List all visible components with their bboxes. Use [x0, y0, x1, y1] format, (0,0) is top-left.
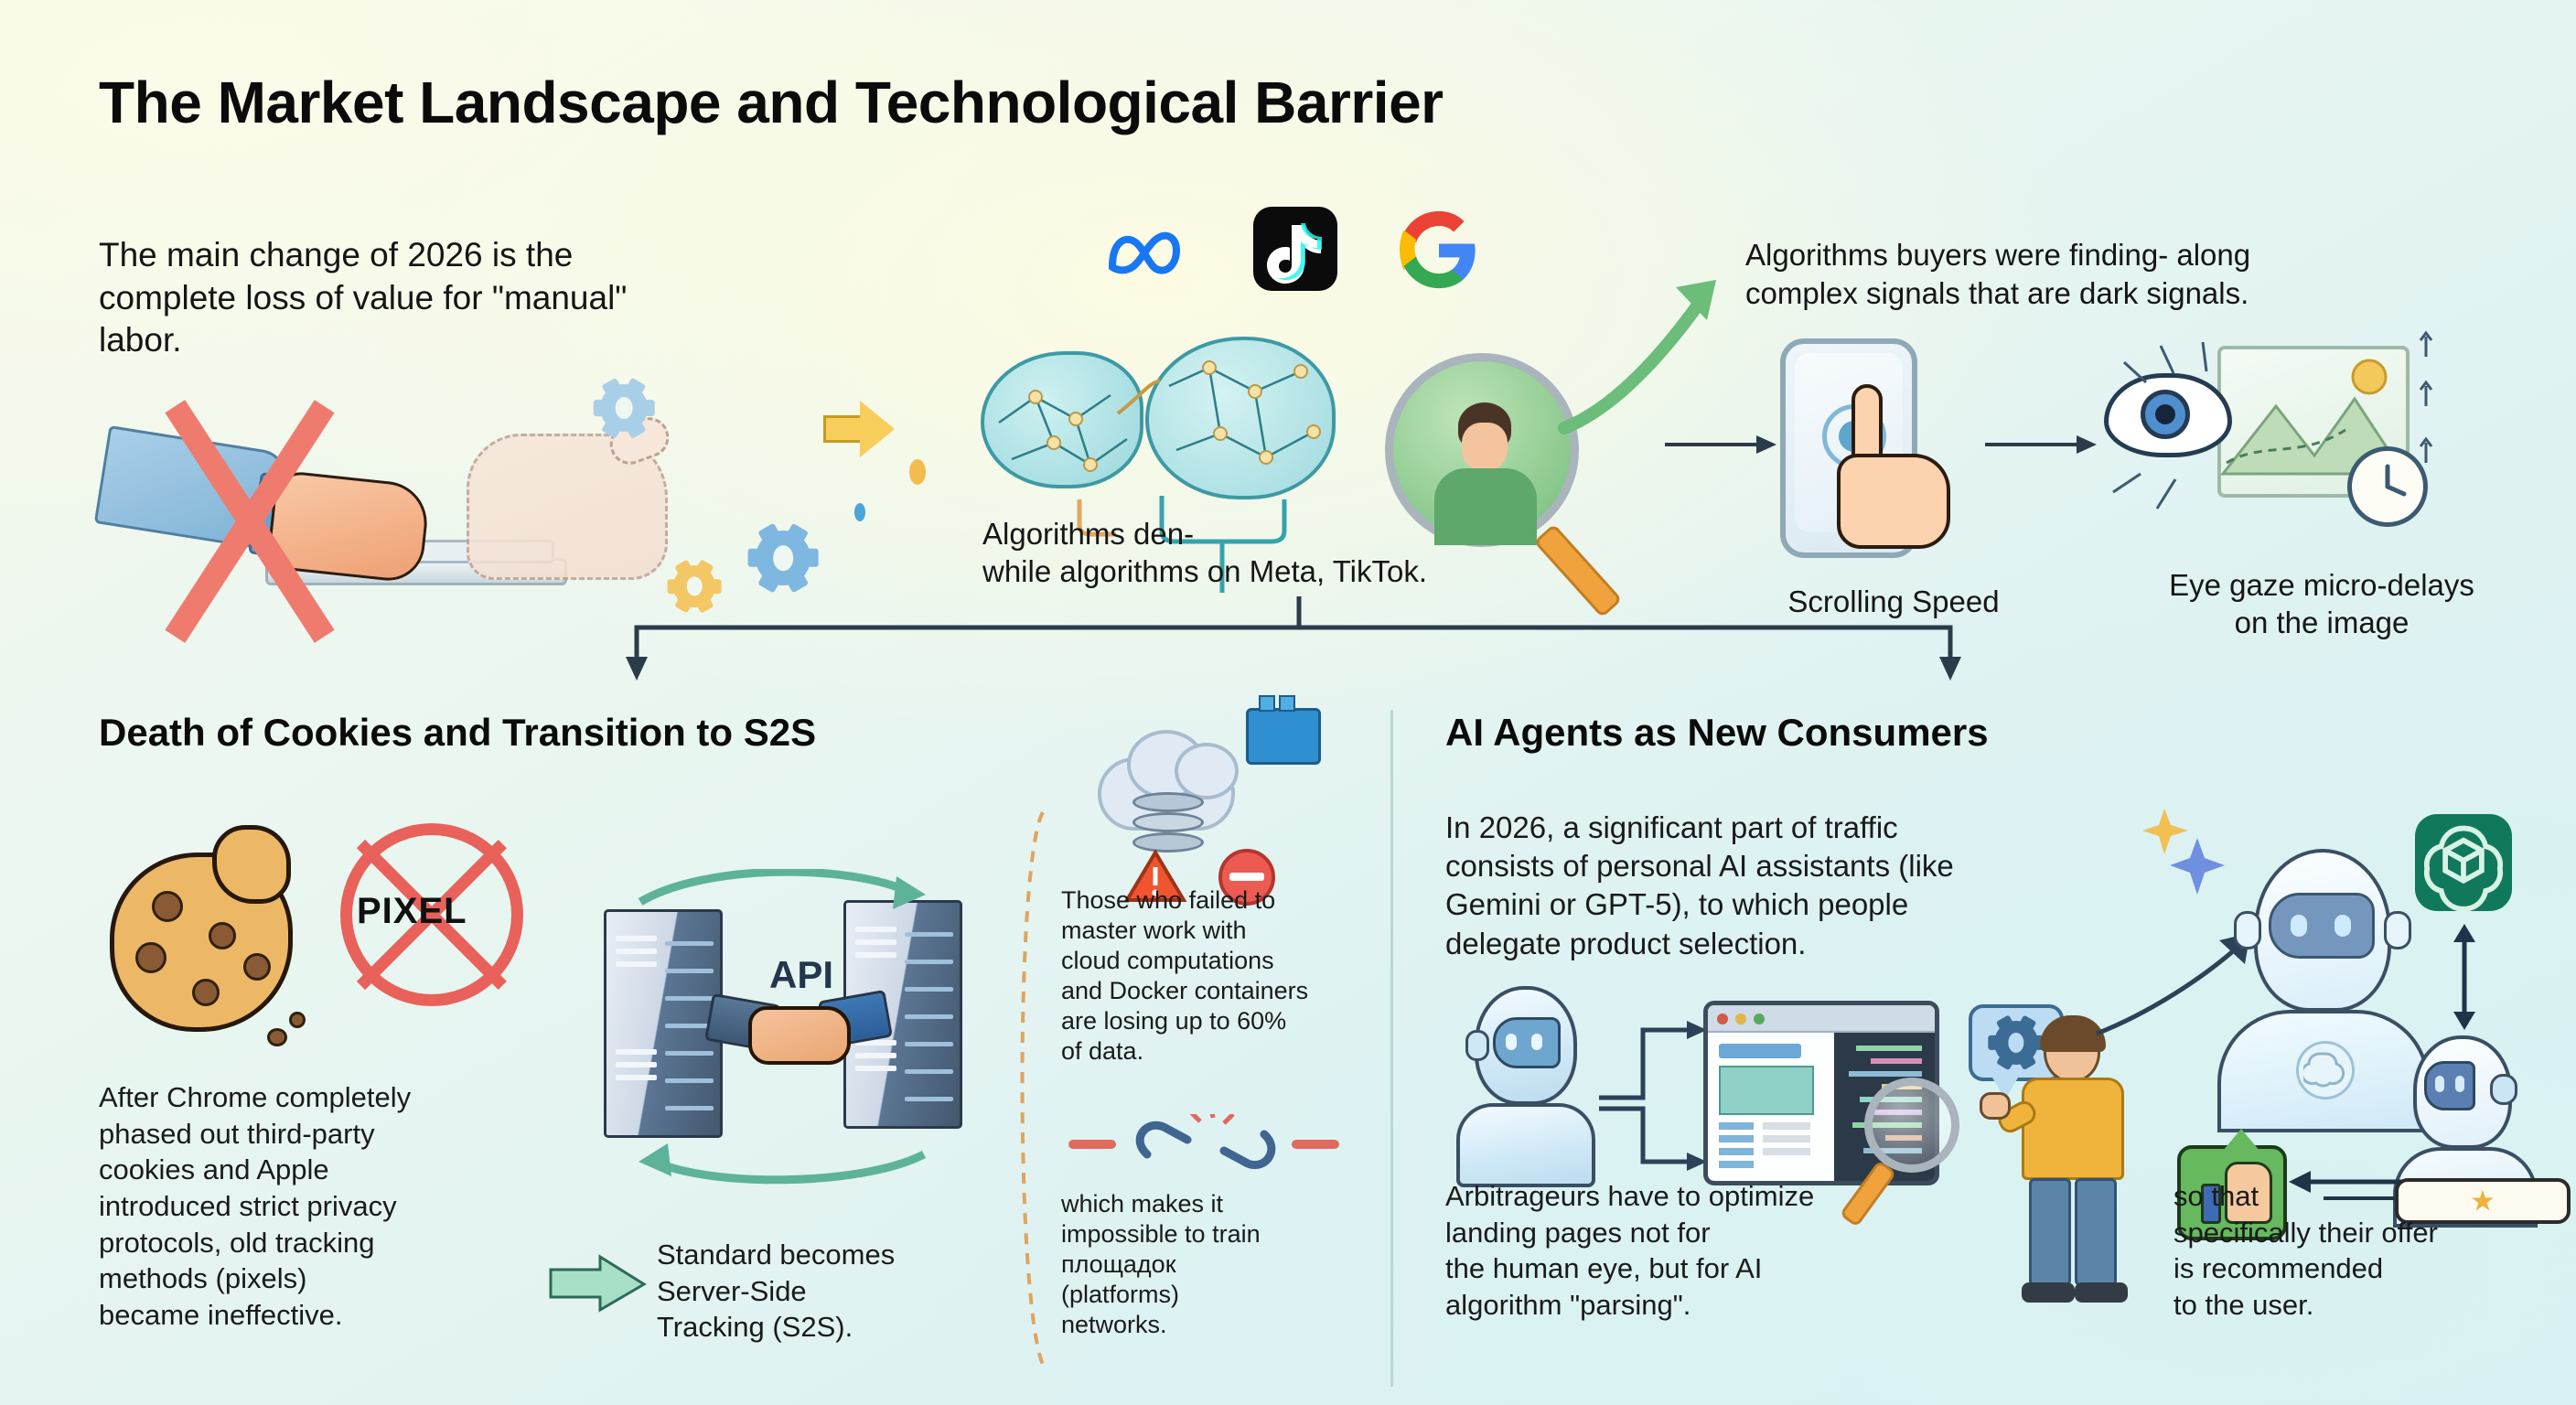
- manual-labor-crossed-art: [101, 393, 887, 622]
- broken-link-icon: [1061, 1114, 1363, 1178]
- top-right-lead: Algorithms buyers were finding- along co…: [1745, 236, 2422, 312]
- api-handshake-art: API: [585, 869, 1006, 1198]
- pixel-label: PIXEL: [357, 891, 467, 932]
- ai-robot-small-icon: [1453, 986, 1617, 1187]
- pixel-blocked-icon[interactable]: PIXEL: [340, 823, 523, 1006]
- eye-gaze-caption: Eye gaze micro-delays on the image: [2120, 567, 2523, 642]
- infographic-canvas: The Market Landscape and Technological B…: [0, 0, 2576, 1405]
- panel-divider: [1390, 710, 1393, 1387]
- page-title: The Market Landscape and Technological B…: [99, 71, 2367, 134]
- green-arrow-s2s: [549, 1253, 659, 1317]
- left-right-bottom-text: which makes it impossible to train площа…: [1061, 1189, 1390, 1340]
- right-panel-heading: AI Agents as New Consumers: [1445, 712, 2525, 754]
- eye-gaze-art: [2104, 329, 2488, 567]
- right-body-left-text: Arbitrageurs have to optimize landing pa…: [1445, 1178, 2031, 1324]
- openai-logo: [2415, 814, 2512, 911]
- google-logo: [1400, 210, 1478, 289]
- left-center-body-text: Standard becomes Server-Side Tracking (S…: [657, 1237, 1041, 1346]
- left-body-text: After Chrome completely phased out third…: [99, 1079, 574, 1334]
- arrow-to-eye: [1985, 426, 2104, 463]
- cloud-docker-art: [1079, 704, 1354, 887]
- broken-cookie-icon: [110, 821, 329, 1050]
- right-body-right-text: so that specifically their offer is reco…: [2173, 1178, 2558, 1324]
- split-flow-arrows: [567, 596, 2031, 697]
- growth-arrow: [1555, 263, 1738, 446]
- center-caption: Algorithms den- while algorithms on Meta…: [982, 516, 1623, 591]
- top-lead-text: The main change of 2026 is the complete …: [99, 234, 904, 362]
- hand-pointer-icon: [1831, 375, 1969, 558]
- left-right-top-text: Those who failed to master work with clo…: [1061, 885, 1390, 1067]
- vertical-double-arrow: [2444, 922, 2485, 1032]
- neural-brain-art: [981, 331, 1365, 514]
- tiktok-logo: [1253, 207, 1337, 291]
- right-panel-lead: In 2026, a significant part of traffic c…: [1445, 809, 2177, 963]
- left-panel-heading: Death of Cookies and Transition to S2S: [99, 712, 1251, 754]
- parsing-magnifier-icon: [1864, 1078, 1959, 1173]
- meta-logo: [1105, 225, 1186, 282]
- dashed-bracket-left: [1006, 805, 1061, 1372]
